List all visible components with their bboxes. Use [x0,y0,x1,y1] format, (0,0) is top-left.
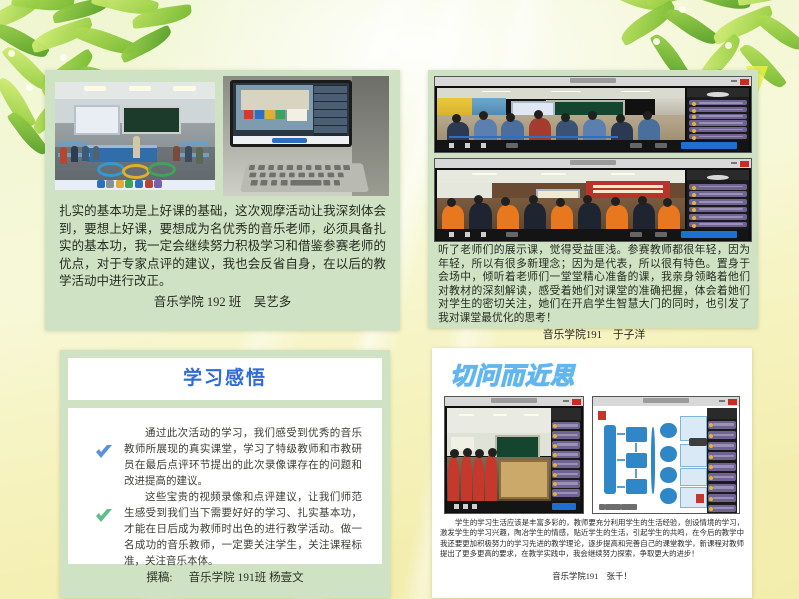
video-stage[interactable] [447,408,551,505]
window-titlebar [445,397,583,406]
footer-label: 撰稿: [146,569,172,585]
bottom-right-caption-block: 学生的学习生活应该是丰富多彩的，教师要充分利用学生的生活经验，创设情境的学习，激… [440,518,744,582]
bottom-right-panel: 切问而近思 [432,348,752,598]
green-check-icon [94,508,114,526]
top-right-panel: 听了老师们的展示课，觉得受益匪浅。参赛教师都很年轻，因为年轻，所以有很多新理念；… [428,70,758,328]
page-title: 学习感悟 [68,358,382,400]
reflection-signature: 音乐学院191 于子洋 [438,326,750,344]
previous-icon[interactable] [449,232,454,237]
bottom-left-panel: 学习感悟 通过此次活动的学习，我们感受到优秀的音乐教师所展现的真实课堂，学习了特… [60,350,390,598]
video-sidebar[interactable] [687,170,749,233]
window-teaching-flowchart-diagram[interactable] [592,396,740,514]
video-sidebar[interactable] [687,88,749,144]
video-window-classroom-orange-uniform[interactable] [434,158,752,242]
video-controls[interactable] [447,501,581,512]
top-right-reflection-text: 听了老师们的展示课，觉得受益匪浅。参赛教师都很年轻，因为年轻，所以有很多新理念；… [438,244,750,344]
blue-check-icon [94,444,114,462]
video-window-classroom-blue-uniform[interactable] [434,76,752,153]
learning-insights-title-card: 学习感悟 [68,358,382,400]
window-titlebar [435,159,751,168]
caption-signature: 音乐学院191 张千！ [440,570,744,582]
video-controls[interactable] [437,229,749,240]
learning-insights-body-card: 通过此次活动的学习，我们感受到优秀的音乐教师所展现的真实课堂，学习了特级教师和市… [68,408,382,564]
action-button[interactable] [681,231,737,238]
window-titlebar [435,77,751,86]
footer-value: 音乐学院 191班 杨壹文 [189,569,304,585]
reflection-body: 听了老师们的展示课，觉得受益匪浅。参赛教师都很年轻，因为年轻，所以有很多新理念；… [438,244,750,326]
next-icon[interactable] [481,143,486,148]
previous-icon[interactable] [454,504,459,509]
pause-icon[interactable] [465,143,470,148]
top-left-reflection-text: 扎实的基本功是上好课的基础，这次观摩活动让我深刻体会到，要想上好课，要想成为名优… [59,203,386,313]
top-left-panel: 扎实的基本功是上好课的基础，这次观摩活动让我深刻体会到，要想上好课，要想成为名优… [45,70,400,330]
window-titlebar [593,397,739,406]
bullet-text-2: 这些宝贵的视频录像和点评建议，让我们师范生感受到我们当下需要好好的学习、扎实基本… [124,490,362,570]
diagram-stage[interactable] [595,408,707,513]
bottom-right-title: 切问而近思 [450,356,575,391]
close-icon[interactable] [740,79,749,85]
previous-icon[interactable] [449,143,454,148]
annotation-marker-icon [598,411,606,420]
action-button[interactable] [681,142,737,149]
reflection-signature: 音乐学院 192 班 吴艺多 [59,292,386,313]
pause-icon[interactable] [463,504,468,509]
video-stage[interactable] [437,170,685,233]
close-icon[interactable] [740,161,749,167]
caption-body: 学生的学习生活应该是丰富多彩的，教师要充分利用学生的生活经验，创设情境的学习，激… [440,518,744,560]
video-window-classroom-red-uniform[interactable] [444,396,584,514]
close-icon[interactable] [572,399,581,405]
bullet-text-1: 通过此次活动的学习，我们感受到优秀的音乐教师所展现的真实课堂，学习了特级教师和市… [124,426,362,490]
next-icon[interactable] [481,232,486,237]
classroom-observation-photo [55,82,215,190]
annotation-marker-end-icon [696,494,704,503]
progress-bar[interactable] [449,136,617,138]
video-sidebar[interactable] [551,408,581,505]
pause-icon[interactable] [465,232,470,237]
action-button[interactable] [552,503,576,510]
diagram-sidebar[interactable] [707,408,737,513]
bottom-left-footer: 撰稿: 音乐学院 191班 杨壹文 [68,564,382,590]
video-controls[interactable] [437,140,749,151]
close-icon[interactable] [728,399,737,405]
reflection-body: 扎实的基本功是上好课的基础，这次观摩活动让我深刻体会到，要想上好课，要想成为名优… [59,203,386,291]
next-icon[interactable] [472,504,477,509]
laptop-video-conference-photo [223,76,389,196]
